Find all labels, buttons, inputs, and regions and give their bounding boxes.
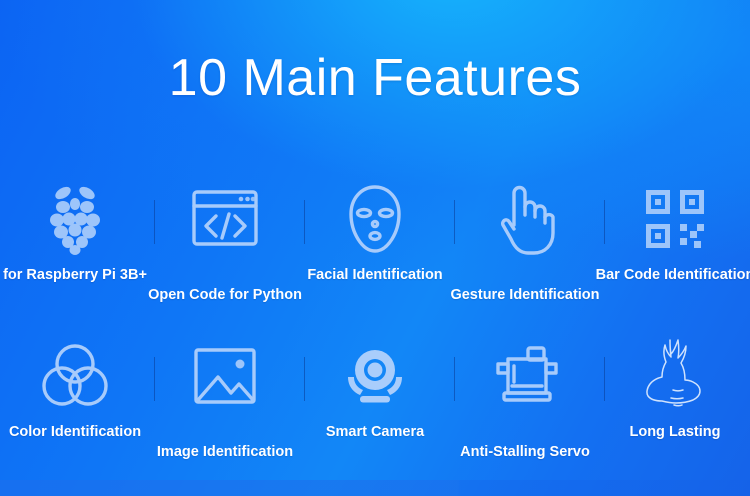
feature-label: Facial Identification — [272, 268, 478, 284]
feature-label: Smart Camera — [272, 425, 478, 441]
feature-label: Open Code for Python — [122, 288, 328, 304]
feature-item-facial-identification[interactable]: Facial Identification — [300, 178, 450, 328]
feature-item-raspberry-pi[interactable]: for Raspberry Pi 3B+ — [0, 178, 150, 328]
feature-item-long-lasting[interactable]: Long Lasting — [600, 335, 750, 485]
feature-poster: 10 Main Features — [0, 0, 750, 496]
feature-label: Image Identification — [122, 445, 328, 461]
battery-endurance-icon — [600, 335, 750, 417]
servo-motor-icon — [450, 335, 600, 417]
webcam-icon — [300, 335, 450, 417]
feature-item-image-identification[interactable]: Image Identification — [150, 335, 300, 485]
feature-item-smart-camera[interactable]: Smart Camera — [300, 335, 450, 485]
feature-label: Gesture Identification — [422, 288, 628, 304]
feature-label: Long Lasting — [572, 425, 750, 441]
color-circles-icon — [0, 335, 150, 417]
feature-item-bar-code-identification[interactable]: Bar Code Identification — [600, 178, 750, 328]
code-window-icon — [150, 178, 300, 260]
raspberry-pi-icon — [0, 178, 150, 260]
feature-item-color-identification[interactable]: Color Identification — [0, 335, 150, 485]
feature-label: Bar Code Identification — [572, 268, 750, 284]
qr-code-icon — [600, 178, 750, 260]
feature-item-open-code[interactable]: Open Code for Python — [150, 178, 300, 328]
feature-item-gesture-identification[interactable]: Gesture Identification — [450, 178, 600, 328]
feature-row-1: for Raspberry Pi 3B+ Open Code for Pytho… — [0, 178, 750, 328]
feature-row-2: Color Identification Image Identificatio… — [0, 335, 750, 485]
pointing-hand-icon — [450, 178, 600, 260]
photo-icon — [150, 335, 300, 417]
page-title: 10 Main Features — [0, 52, 750, 104]
face-icon — [300, 178, 450, 260]
feature-item-anti-stalling-servo[interactable]: Anti-Stalling Servo — [450, 335, 600, 485]
feature-label: Anti-Stalling Servo — [422, 445, 628, 461]
